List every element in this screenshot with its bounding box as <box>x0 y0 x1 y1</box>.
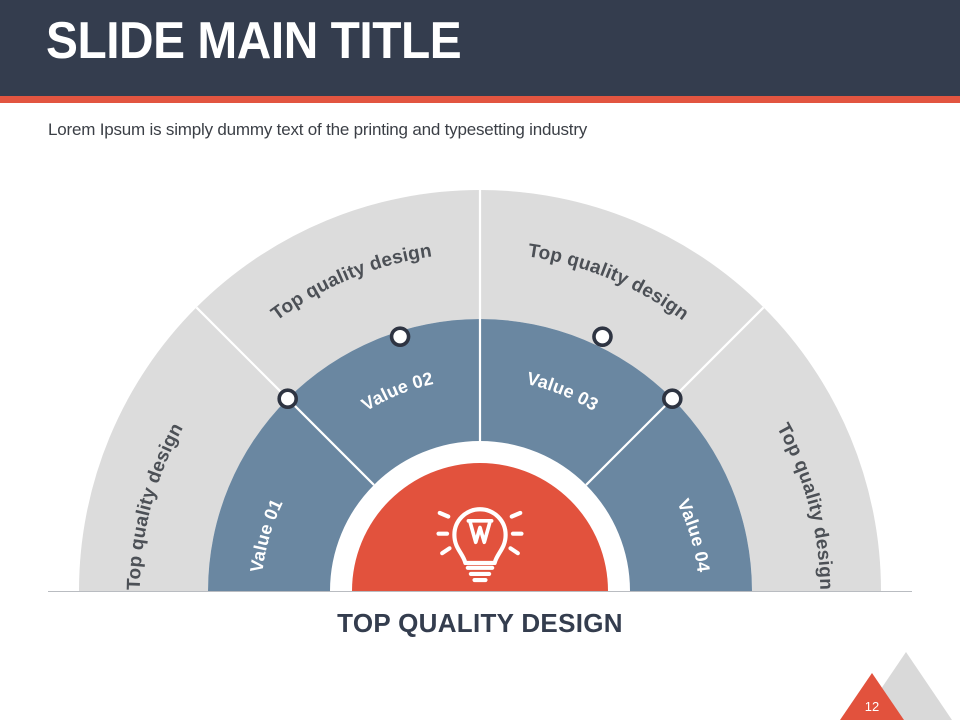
segment-marker-4[interactable] <box>664 390 681 407</box>
segment-marker-3[interactable] <box>594 328 611 345</box>
page-title: SLIDE MAIN TITLE <box>46 15 461 67</box>
accent-bar <box>0 96 960 103</box>
semicircle-diagram: Top quality design Top quality design To… <box>0 150 960 610</box>
baseline-divider <box>48 591 912 592</box>
page-number-corner: 12 <box>840 630 960 720</box>
segment-marker-1[interactable] <box>279 390 296 407</box>
page-number: 12 <box>858 699 886 714</box>
segment-marker-2[interactable] <box>392 328 409 345</box>
slide-subtitle: Lorem Ipsum is simply dummy text of the … <box>48 120 587 140</box>
diagram-caption: TOP QUALITY DESIGN <box>0 608 960 639</box>
